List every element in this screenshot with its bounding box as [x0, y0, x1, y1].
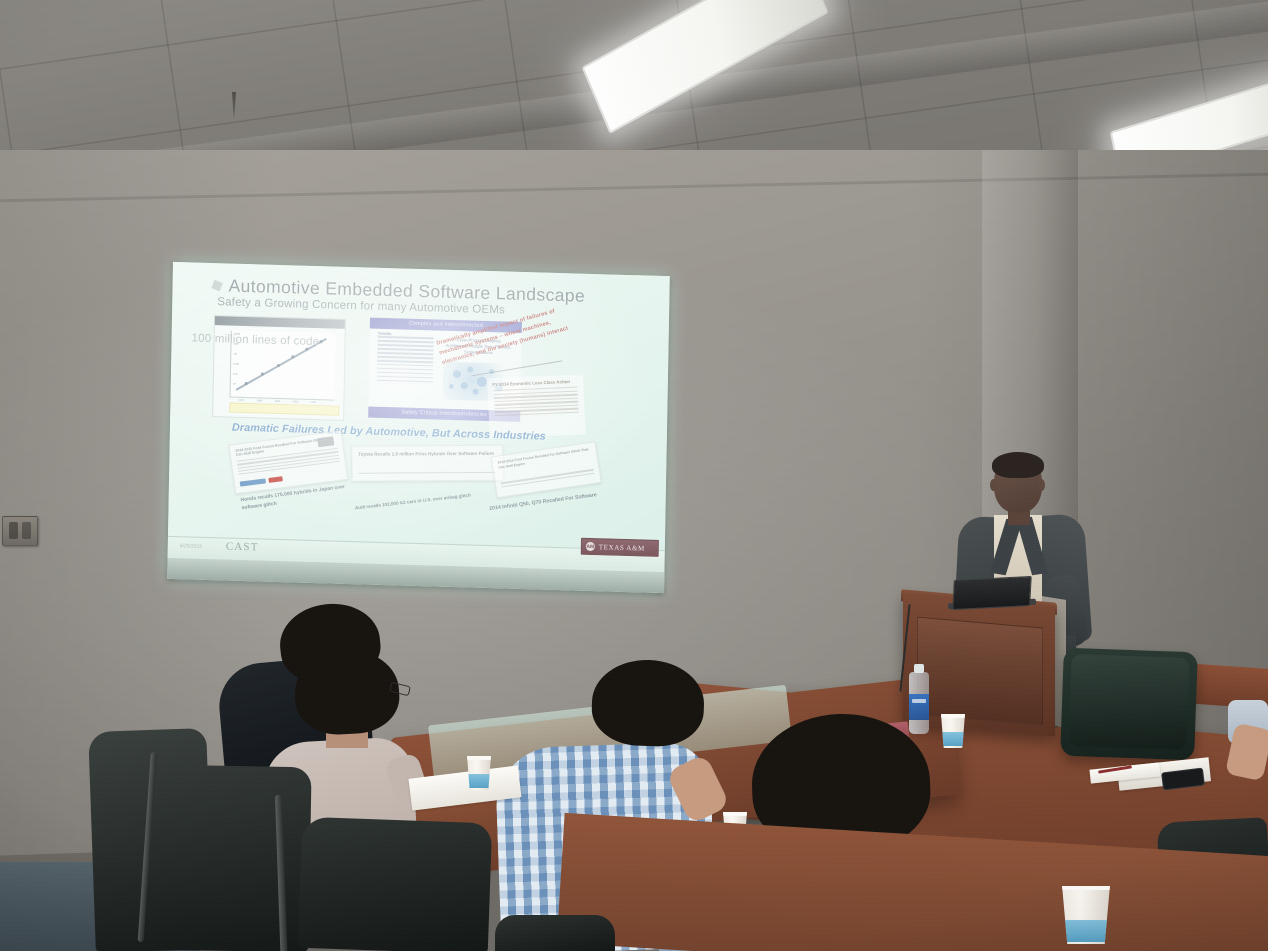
x-tick: 2010: [310, 401, 316, 404]
news-clipping: Toyota Recalls 1.9 million Prius Hybrids…: [351, 445, 504, 482]
news-clipping: 2014-2015 Ford Fusion Recalled For Softw…: [491, 441, 602, 498]
y-tick: 10K: [233, 373, 238, 376]
presentation-slide: Automotive Embedded Software Landscape S…: [168, 262, 670, 572]
y-tick: 1M: [233, 353, 237, 356]
texas-am-wordmark: TEXAS A&M: [599, 543, 645, 552]
water-bottle: [909, 672, 929, 734]
slide-org-label: CAST: [226, 540, 259, 553]
x-tick: 1970: [238, 399, 244, 402]
office-chair[interactable]: [298, 817, 492, 951]
coffee-cup: [466, 756, 492, 790]
x-tick: 1990: [274, 400, 280, 403]
left-panel-note: [229, 403, 339, 416]
coffee-cup: [1060, 886, 1112, 944]
office-chair[interactable]: [1060, 648, 1198, 761]
news-headline: Toyota Recalls 1.9 million Prius Hybrids…: [358, 451, 498, 459]
x-tick: 1980: [256, 399, 262, 402]
news-headline: Audi recalls 102,000 A3 cars in U.S. ove…: [355, 492, 473, 512]
laptop[interactable]: [952, 576, 1031, 610]
projection-screen[interactable]: Automotive Embedded Software Landscape S…: [167, 262, 670, 593]
lines-of-code-label: 100 million lines of code: [191, 332, 319, 348]
presenter-ear: [1038, 479, 1045, 491]
podium-front-panel: [917, 617, 1043, 726]
conference-room-photo: Automotive Embedded Software Landscape S…: [0, 0, 1268, 951]
news-headline: 2014-2015 Ford Fusion Recalled For Softw…: [497, 447, 591, 471]
x-tick: 2000: [292, 400, 298, 403]
power-outlet-icon: [2, 516, 38, 546]
office-chair[interactable]: [495, 915, 615, 951]
right-panel-heading: FY 2014 Economic Loss Class Action: [492, 378, 583, 387]
bottle-label: [909, 694, 929, 720]
y-tick: 1K: [233, 383, 236, 386]
coffee-cup: [940, 714, 966, 748]
office-chair[interactable]: [158, 765, 311, 951]
slide-left-chart-panel: 100M 10M 1M 100K 10K 1K 1970 1980 1990: [212, 315, 346, 421]
texas-am-logo: AM TEXAS A&M: [581, 538, 659, 557]
center-list: [377, 336, 434, 385]
slide-date: 6/25/2015: [180, 543, 202, 550]
texas-am-seal-icon: AM: [586, 542, 595, 551]
bottle-cap: [914, 664, 924, 673]
presenter-ear: [990, 479, 997, 491]
left-panel-header-bar: [215, 316, 345, 329]
slide-bullet-icon: [211, 280, 223, 292]
y-tick: 100K: [233, 363, 239, 366]
presenter-hair: [992, 452, 1044, 478]
